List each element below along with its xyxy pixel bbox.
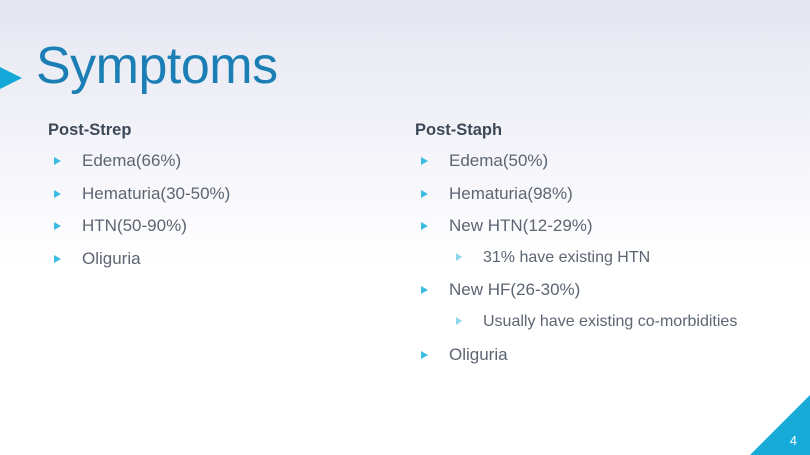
content-column-right: Post-Staph Edema(50%) Hematuria(98%) New… — [415, 120, 785, 376]
list-item-label: Edema(66%) — [82, 151, 181, 170]
triangle-bullet-icon — [54, 222, 61, 230]
list-item-label: Hematuria(98%) — [449, 184, 573, 203]
sub-bullet-list: 31% have existing HTN — [449, 247, 785, 270]
triangle-bullet-icon — [54, 190, 61, 198]
triangle-bullet-icon — [54, 255, 61, 263]
slide-number: 4 — [790, 434, 797, 447]
list-item-label: Oliguria — [449, 345, 508, 364]
list-item: New HTN(12-29%) 31% have existing HTN — [415, 215, 785, 269]
sub-list-item: 31% have existing HTN — [449, 247, 785, 270]
list-item-label: Edema(50%) — [449, 151, 548, 170]
list-item: Edema(50%) — [415, 150, 785, 172]
content-column-left: Post-Strep Edema(66%) Hematuria(30-50%) … — [48, 120, 398, 280]
list-item-label: New HF(26-30%) — [449, 280, 580, 299]
title-arrow-icon — [0, 60, 22, 96]
triangle-bullet-icon — [421, 157, 428, 165]
list-item-label: Hematuria(30-50%) — [82, 184, 230, 203]
list-item-label: New HTN(12-29%) — [449, 216, 593, 235]
triangle-bullet-icon — [54, 157, 61, 165]
list-item-label: Oliguria — [82, 249, 141, 268]
list-item: Hematuria(30-50%) — [48, 183, 398, 205]
column-heading-post-strep: Post-Strep — [48, 120, 398, 141]
sub-list-item: Usually have existing co-morbidities — [449, 311, 785, 334]
list-item-label: HTN(50-90%) — [82, 216, 187, 235]
triangle-bullet-icon — [421, 286, 428, 294]
list-item: HTN(50-90%) — [48, 215, 398, 237]
triangle-bullet-icon — [421, 222, 428, 230]
list-item: Edema(66%) — [48, 150, 398, 172]
sub-list-item-label: 31% have existing HTN — [483, 249, 650, 266]
bullet-list-post-strep: Edema(66%) Hematuria(30-50%) HTN(50-90%)… — [48, 150, 398, 270]
triangle-bullet-icon — [421, 190, 428, 198]
triangle-sub-bullet-icon — [456, 253, 462, 261]
sub-list-item-label: Usually have existing co-morbidities — [483, 311, 737, 334]
triangle-bullet-icon — [421, 351, 428, 359]
list-item: Oliguria — [48, 248, 398, 270]
corner-decoration — [750, 395, 810, 455]
sub-bullet-list: Usually have existing co-morbidities — [449, 311, 785, 334]
list-item: Hematuria(98%) — [415, 183, 785, 205]
triangle-sub-bullet-icon — [456, 317, 462, 325]
list-item: New HF(26-30%) Usually have existing co-… — [415, 279, 785, 333]
column-heading-post-staph: Post-Staph — [415, 120, 785, 141]
bullet-list-post-staph: Edema(50%) Hematuria(98%) New HTN(12-29%… — [415, 150, 785, 366]
slide-canvas: Symptoms Post-Strep Edema(66%) Hematuria… — [0, 0, 810, 455]
list-item: Oliguria — [415, 344, 785, 366]
page-title: Symptoms — [36, 38, 278, 95]
